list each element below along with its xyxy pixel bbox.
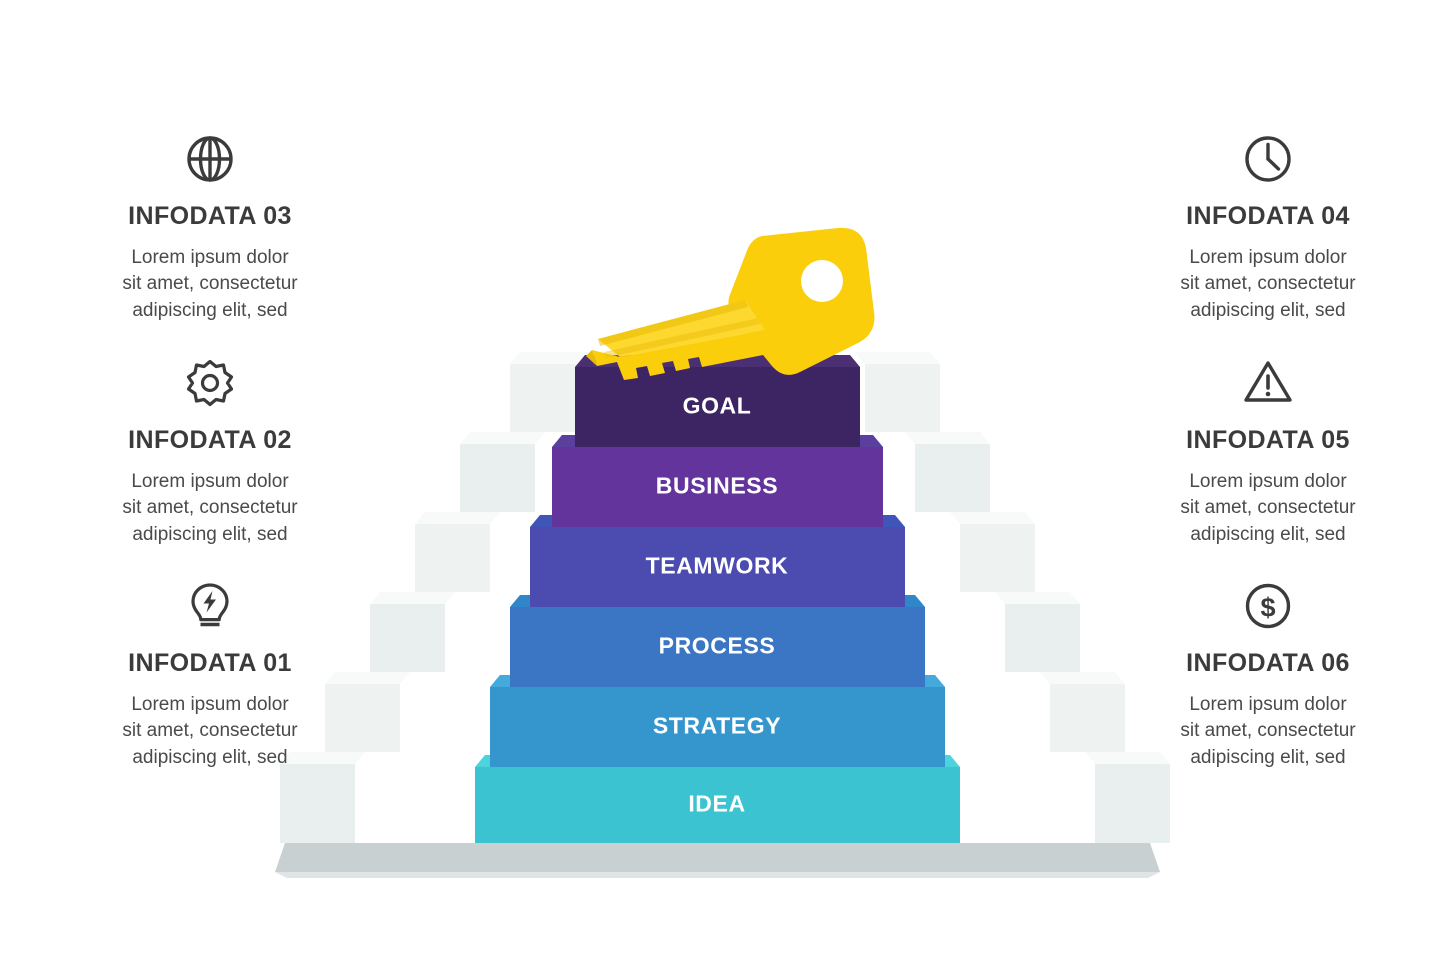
step-business (552, 435, 883, 527)
step-idea (475, 755, 960, 843)
info-desc-line-1: Lorem ipsum dolor (131, 471, 288, 492)
info-desc-line-1: Lorem ipsum dolor (131, 694, 288, 715)
info-title-06: INFODATA 06 (1118, 650, 1418, 678)
info-desc-line-3: adipiscing elit, sed (132, 747, 287, 768)
info-desc-line-3: adipiscing elit, sed (1190, 747, 1345, 768)
infographic-canvas: GOAL BUSINESS TEAMWORK PROCESS STRATEGY … (0, 0, 1435, 980)
step-process (510, 595, 925, 687)
info-block-05[interactable]: INFODATA 05 Lorem ipsum dolor sit amet, … (1118, 355, 1418, 549)
info-desc-02: Lorem ipsum dolor sit amet, consectetur … (60, 469, 360, 550)
info-desc-05: Lorem ipsum dolor sit amet, consectetur … (1118, 469, 1418, 550)
gear-icon (60, 355, 360, 413)
info-desc-03: Lorem ipsum dolor sit amet, consectetur … (60, 245, 360, 326)
info-desc-04: Lorem ipsum dolor sit amet, consectetur … (1118, 245, 1418, 326)
lightbulb-icon (60, 578, 360, 636)
step-strategy (490, 675, 945, 767)
info-block-06[interactable]: $ INFODATA 06 Lorem ipsum dolor sit amet… (1118, 578, 1418, 772)
info-block-04[interactable]: INFODATA 04 Lorem ipsum dolor sit amet, … (1118, 131, 1418, 325)
info-desc-line-3: adipiscing elit, sed (132, 524, 287, 545)
info-title-02: INFODATA 02 (60, 427, 360, 455)
info-desc-line-1: Lorem ipsum dolor (1189, 694, 1346, 715)
info-block-03[interactable]: INFODATA 03 Lorem ipsum dolor sit amet, … (60, 131, 360, 325)
clock-icon (1118, 131, 1418, 189)
info-title-05: INFODATA 05 (1118, 427, 1418, 455)
info-desc-line-3: adipiscing elit, sed (1190, 524, 1345, 545)
info-desc-06: Lorem ipsum dolor sit amet, consectetur … (1118, 692, 1418, 773)
info-desc-line-3: adipiscing elit, sed (132, 300, 287, 321)
info-desc-line-2: sit amet, consectetur (122, 497, 297, 518)
info-desc-line-2: sit amet, consectetur (122, 720, 297, 741)
base-slab (275, 843, 1160, 872)
info-desc-line-2: sit amet, consectetur (122, 273, 297, 294)
info-desc-line-1: Lorem ipsum dolor (131, 247, 288, 268)
info-desc-line-1: Lorem ipsum dolor (1189, 247, 1346, 268)
info-block-01[interactable]: INFODATA 01 Lorem ipsum dolor sit amet, … (60, 578, 360, 772)
info-desc-line-1: Lorem ipsum dolor (1189, 471, 1346, 492)
warning-triangle-icon (1118, 355, 1418, 413)
info-desc-01: Lorem ipsum dolor sit amet, consectetur … (60, 692, 360, 773)
info-block-02[interactable]: INFODATA 02 Lorem ipsum dolor sit amet, … (60, 355, 360, 549)
info-desc-line-2: sit amet, consectetur (1180, 273, 1355, 294)
globe-icon (60, 131, 360, 189)
info-title-01: INFODATA 01 (60, 650, 360, 678)
svg-text:$: $ (1260, 593, 1275, 623)
dollar-circle-icon: $ (1118, 578, 1418, 636)
info-desc-line-3: adipiscing elit, sed (1190, 300, 1345, 321)
info-title-04: INFODATA 04 (1118, 203, 1418, 231)
step-goal (575, 355, 860, 447)
info-title-03: INFODATA 03 (60, 203, 360, 231)
base-slab-shadow (275, 872, 1160, 878)
info-desc-line-2: sit amet, consectetur (1180, 720, 1355, 741)
step-teamwork (530, 515, 905, 607)
info-desc-line-2: sit amet, consectetur (1180, 497, 1355, 518)
